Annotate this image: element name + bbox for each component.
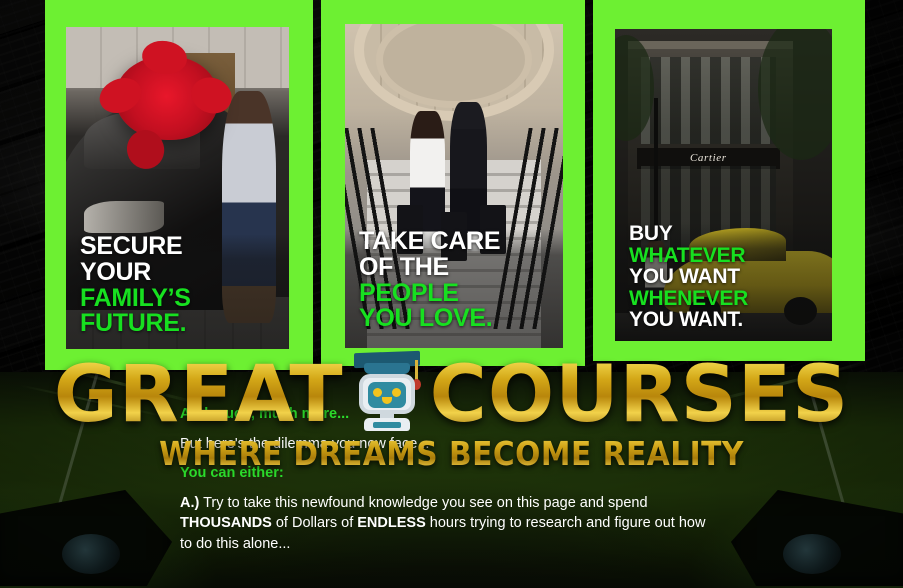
- option-a-seg1: Try to take this newfound knowledge you …: [199, 495, 647, 511]
- card-photo-mall-staircase: TAKE CARE OF THE PEOPLE YOU LOVE.: [345, 24, 563, 348]
- caption-line: OF THE: [359, 255, 563, 281]
- lamp-glass: [783, 534, 841, 574]
- promo-card-buy-whatever-whenever[interactable]: Cartier BUY WHATEVER YOU WANT WHENEVER Y…: [593, 0, 865, 361]
- suv-headlight: [84, 201, 164, 233]
- caption-line: BUY: [629, 223, 832, 245]
- caption-line: FAMILY’S: [80, 286, 289, 312]
- caption-line: FUTURE.: [80, 311, 289, 337]
- lamp-glass: [62, 534, 120, 574]
- copy-line-dilemma: But here's the dilemma you now face...: [180, 434, 720, 455]
- card-caption: SECURE YOUR FAMILY’S FUTURE.: [66, 234, 289, 349]
- card-caption: BUY WHATEVER YOU WANT WHENEVER YOU WANT.: [615, 223, 832, 341]
- caption-line: WHATEVER: [629, 245, 832, 267]
- caption-line: SECURE: [80, 234, 289, 260]
- option-a-marker: A.): [180, 495, 199, 511]
- sales-copy-block: And much, much more... But here's the di…: [180, 404, 720, 563]
- copy-line-either: You can either:: [180, 463, 720, 484]
- option-a-seg2: of Dollars of: [272, 515, 357, 531]
- copy-option-a: A.) Try to take this newfound knowledge …: [180, 493, 720, 555]
- option-a-bold-thousands: THOUSANDS: [180, 515, 272, 531]
- caption-line: YOU WANT.: [629, 309, 832, 331]
- card-caption: TAKE CARE OF THE PEOPLE YOU LOVE.: [345, 229, 563, 348]
- storefront-glass-upper: [641, 57, 776, 144]
- caption-line: WHENEVER: [629, 288, 832, 310]
- red-gift-bow-icon: [115, 56, 218, 140]
- copy-line-more: And much, much more...: [180, 404, 720, 425]
- caption-line: YOUR: [80, 260, 289, 286]
- promo-card-take-care-people-you-love[interactable]: TAKE CARE OF THE PEOPLE YOU LOVE.: [321, 0, 585, 366]
- card-photo-cartier-lamborghini: Cartier BUY WHATEVER YOU WANT WHENEVER Y…: [615, 29, 832, 341]
- headlight-right: [731, 490, 903, 586]
- caption-line: YOU WANT: [629, 266, 832, 288]
- caption-line: TAKE CARE: [359, 229, 563, 255]
- option-a-bold-endless: ENDLESS: [357, 515, 426, 531]
- card-photo-dealership-suv: SECURE YOUR FAMILY’S FUTURE.: [66, 27, 289, 349]
- headlight-left: [0, 490, 172, 586]
- caption-line: PEOPLE: [359, 281, 563, 307]
- promo-card-secure-family-future[interactable]: SECURE YOUR FAMILY’S FUTURE.: [45, 0, 313, 370]
- promo-card-row: SECURE YOUR FAMILY’S FUTURE. TAKE CARE O…: [0, 0, 903, 376]
- caption-line: YOU LOVE.: [359, 306, 563, 332]
